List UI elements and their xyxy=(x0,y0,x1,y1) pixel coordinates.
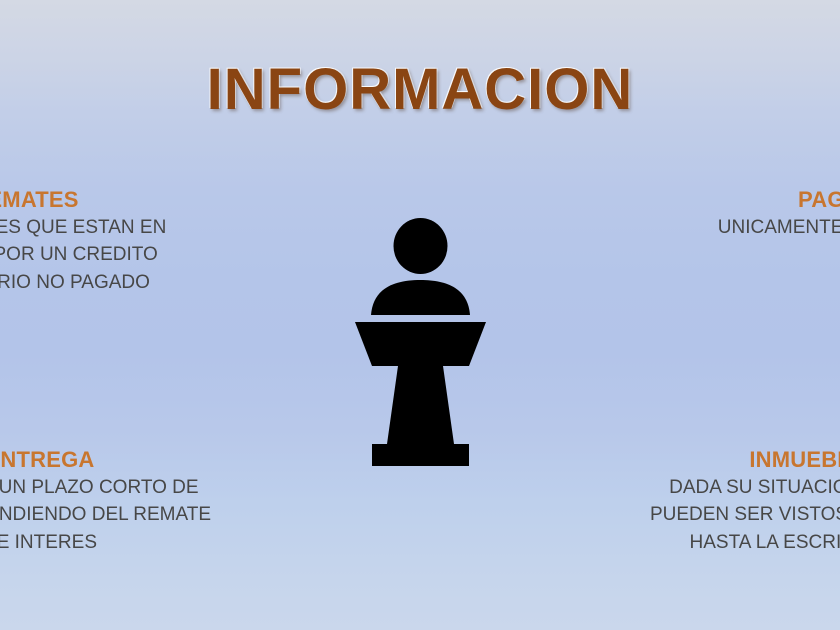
block-line: UNICAMENTE CONTADO xyxy=(620,214,840,242)
block-heading-remates: REMATES xyxy=(0,186,235,214)
block-heading-entrega: ENTREGA xyxy=(0,446,255,474)
block-line: GARANTIA POR UN CREDITO xyxy=(0,241,235,269)
info-block-entrega: ENTREGA DENTRO DE UN PLAZO CORTO DE TIEM… xyxy=(0,446,255,556)
block-line: TIEMPO DEPENDIENDO DEL REMATE xyxy=(0,501,255,529)
slide-canvas: INFORMACION REMATES PROPIEDADES QUE ESTA… xyxy=(0,0,840,630)
podium-speaker-icon xyxy=(343,218,498,468)
block-line: PROPIEDADES QUE ESTAN EN xyxy=(0,214,235,242)
block-heading-pago: PAGO xyxy=(620,186,840,214)
block-line: DE INTERES xyxy=(0,529,255,557)
block-line: HASTA LA ESCRITURACION xyxy=(600,529,840,557)
block-line: HIPOTECARIO NO PAGADO xyxy=(0,269,235,297)
info-block-remates: REMATES PROPIEDADES QUE ESTAN EN GARANTI… xyxy=(0,186,235,296)
info-block-pago: PAGO UNICAMENTE CONTADO xyxy=(620,186,840,241)
block-line: DADA SU SITUACION LEGAL NO xyxy=(600,474,840,502)
info-block-inmuebles: INMUEBLES DADA SU SITUACION LEGAL NO PUE… xyxy=(600,446,840,556)
block-heading-inmuebles: INMUEBLES xyxy=(600,446,840,474)
block-line: PUEDEN SER VISTOS POR DENTRO xyxy=(600,501,840,529)
page-title: INFORMACION xyxy=(0,56,840,123)
block-line: DENTRO DE UN PLAZO CORTO DE xyxy=(0,474,255,502)
